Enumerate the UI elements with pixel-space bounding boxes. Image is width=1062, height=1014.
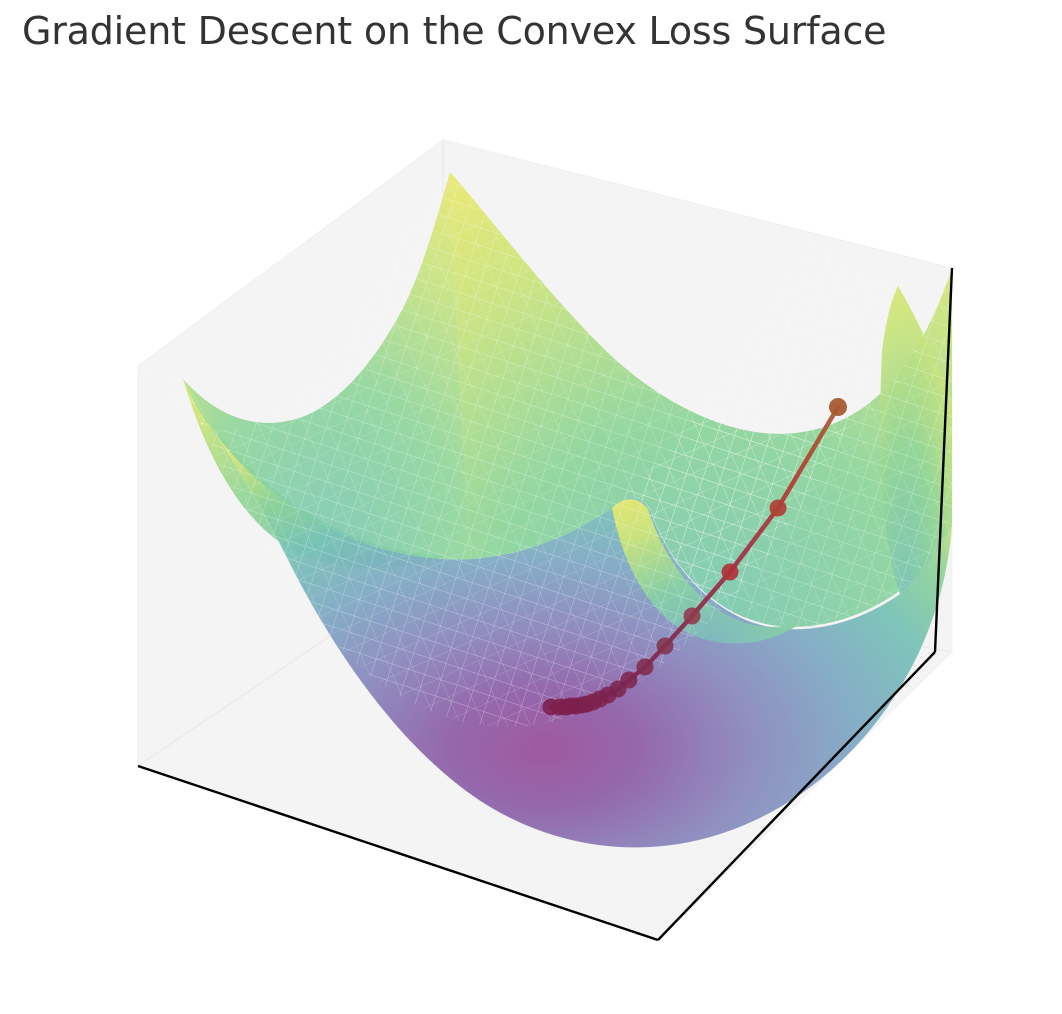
surface-plot-3d[interactable] (0, 0, 1062, 1014)
trajectory-marker[interactable] (637, 659, 654, 676)
trajectory-marker[interactable] (684, 608, 701, 625)
trajectory-marker[interactable] (657, 638, 674, 655)
figure-canvas: Gradient Descent on the Convex Loss Surf… (0, 0, 1062, 1014)
trajectory-marker[interactable] (722, 564, 739, 581)
trajectory-marker[interactable] (770, 500, 787, 517)
trajectory-marker[interactable] (543, 699, 560, 716)
trajectory-marker[interactable] (829, 398, 847, 416)
